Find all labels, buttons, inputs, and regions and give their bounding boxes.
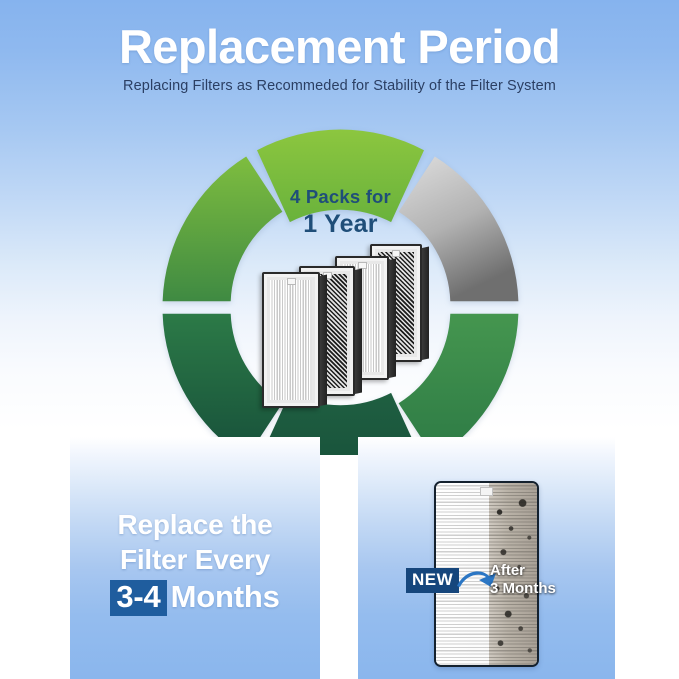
infographic-root: Replacement Period Replacing Filters as … (0, 0, 679, 679)
new-badge: NEW (406, 568, 459, 593)
page-subtitle: Replacing Filters as Recommeded for Stab… (0, 78, 679, 94)
connector-stem (320, 455, 358, 679)
months-highlight: 3-4 (110, 580, 166, 616)
filter-stack-image (258, 243, 438, 408)
months-label: Months (171, 579, 280, 614)
donut-segment-top-light-green (257, 129, 424, 222)
replace-line-3: 3-4Months (70, 578, 320, 616)
filter-panel-1 (262, 272, 320, 408)
replace-line-2: Filter Every (70, 543, 320, 578)
filter-tab (480, 487, 492, 496)
after-line-1: After (490, 562, 600, 580)
replace-line-1: Replace the (70, 508, 320, 543)
header: Replacement Period Replacing Filters as … (0, 0, 679, 94)
after-label: After 3 Months (490, 562, 600, 597)
page-title: Replacement Period (0, 0, 679, 72)
replace-message: Replace the Filter Every 3-4Months (70, 508, 320, 616)
after-line-2: 3 Months (490, 580, 600, 598)
